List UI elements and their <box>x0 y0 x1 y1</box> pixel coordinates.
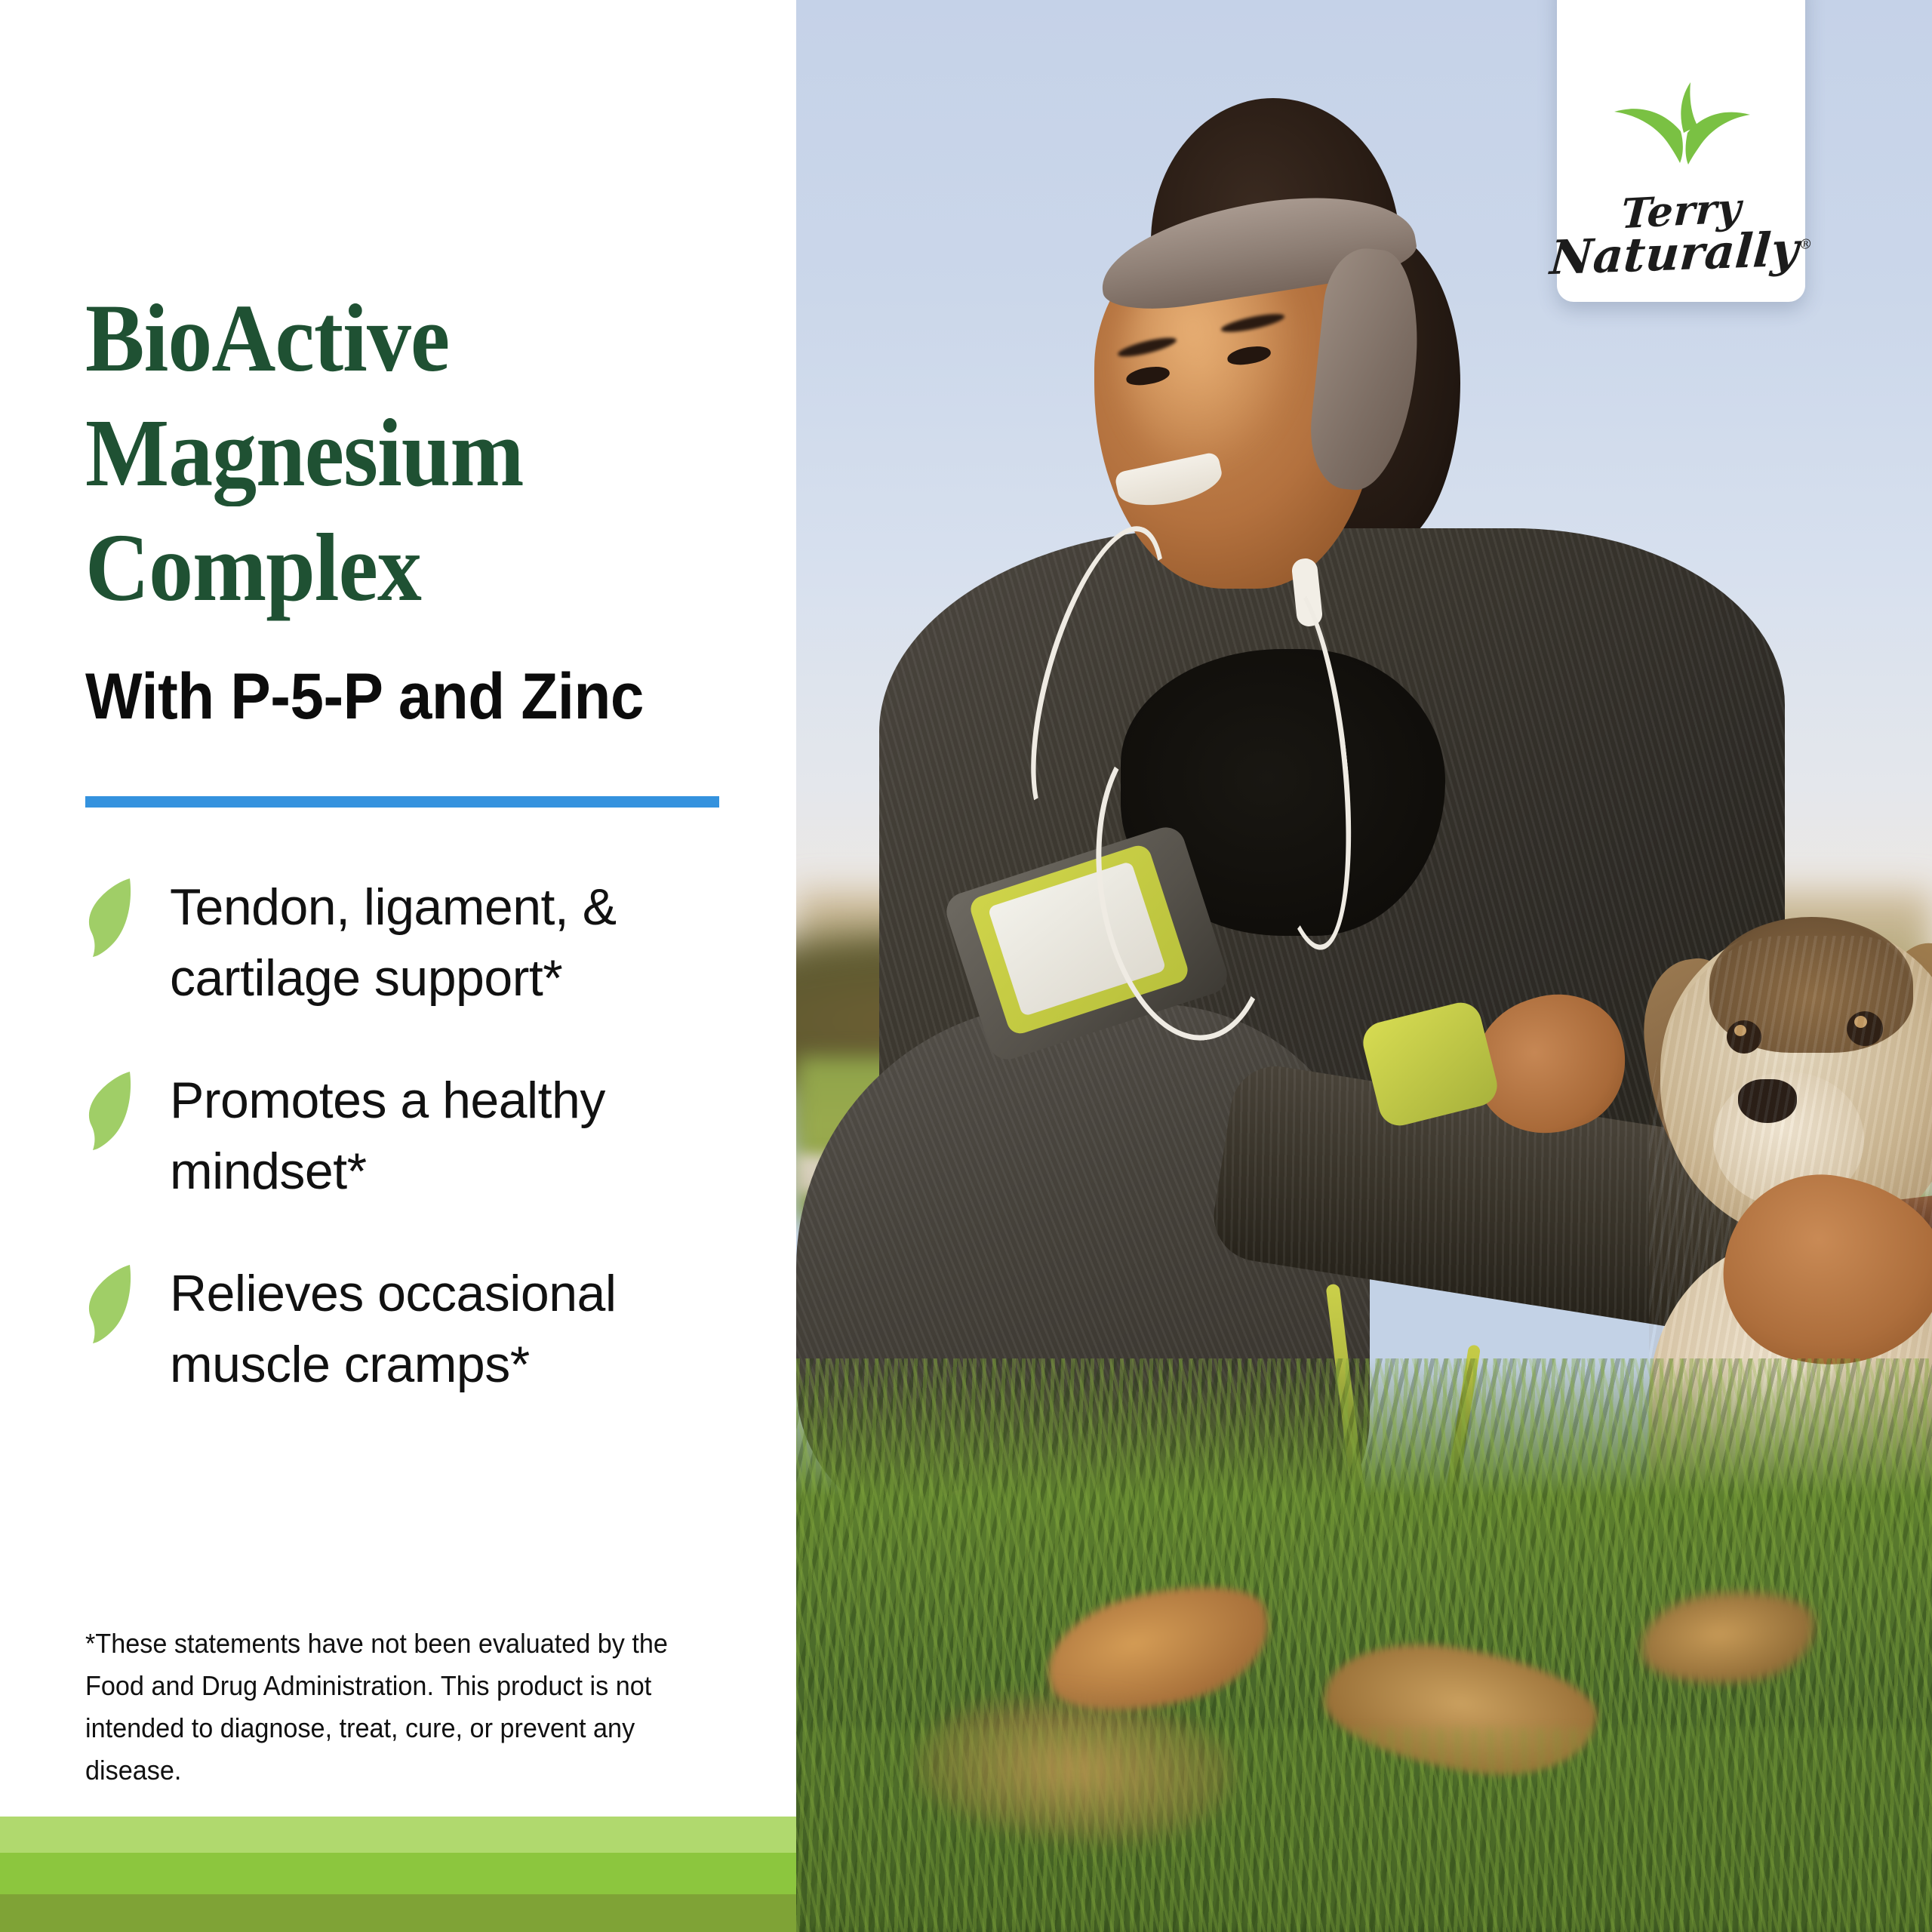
title-line-2: Magnesium <box>85 395 710 510</box>
page-title: BioActive Magnesium Complex <box>85 281 764 625</box>
brand-logo-card: Terry Naturally® <box>1557 0 1805 302</box>
brand-name-text: Naturally <box>1548 221 1800 285</box>
title-line-3: Complex <box>85 510 710 625</box>
brand-wordmark: Terry Naturally® <box>1550 192 1813 275</box>
title-line-1: BioActive <box>85 281 710 395</box>
left-content-panel: BioActive Magnesium Complex With P-5-P a… <box>0 0 796 1932</box>
benefits-list: Tendon, ligament, & cartilage support* P… <box>85 872 734 1451</box>
list-item: Relieves occasional muscle cramps* <box>85 1258 734 1400</box>
fda-disclaimer: *These statements have not been evaluate… <box>85 1623 716 1792</box>
promotional-product-graphic: BioActive Magnesium Complex With P-5-P a… <box>0 0 1932 1932</box>
leaf-icon <box>85 1258 170 1346</box>
registered-trademark-mark: ® <box>1798 236 1814 253</box>
footer-color-bands <box>0 1817 796 1932</box>
three-leaf-sprout-icon <box>1602 78 1761 188</box>
leaf-icon <box>85 1065 170 1152</box>
product-subtitle: With P-5-P and Zinc <box>85 660 644 733</box>
benefit-text: Promotes a healthy mindset* <box>170 1065 734 1207</box>
list-item: Tendon, ligament, & cartilage support* <box>85 872 734 1014</box>
brand-name-line-2: Naturally® <box>1549 227 1814 279</box>
grass-foreground-blur <box>796 1728 1932 1932</box>
leaf-icon <box>85 872 170 959</box>
dark-green-band <box>0 1894 796 1932</box>
blue-divider-rule <box>85 796 719 808</box>
list-item: Promotes a healthy mindset* <box>85 1065 734 1207</box>
benefit-text: Tendon, ligament, & cartilage support* <box>170 872 734 1014</box>
light-green-band <box>0 1817 796 1853</box>
benefit-text: Relieves occasional muscle cramps* <box>170 1258 734 1400</box>
mid-green-band <box>0 1853 796 1894</box>
